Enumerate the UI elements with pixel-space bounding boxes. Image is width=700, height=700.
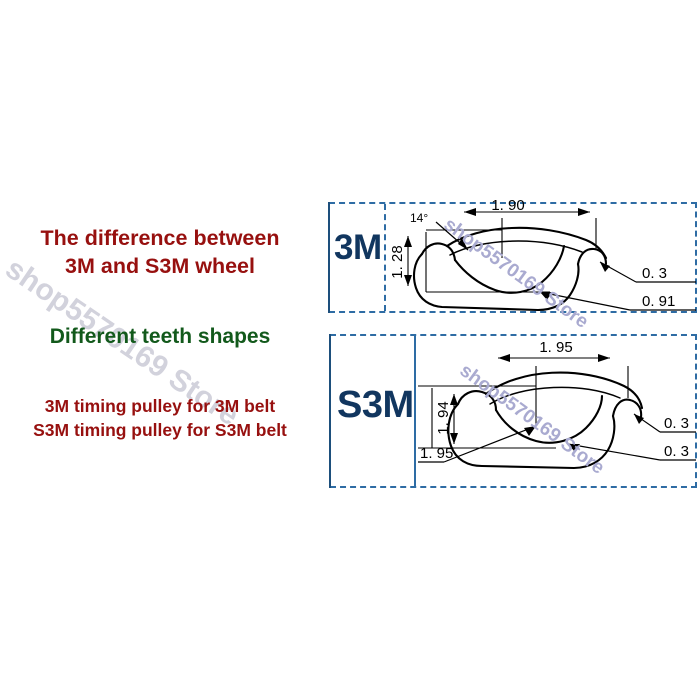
profile-outer-3m [414, 254, 579, 310]
profile-lobe-left-3m [422, 243, 455, 260]
dim-height-s3m: 1. 94 [435, 401, 452, 434]
panel-3m-divider [384, 204, 386, 311]
caption-line-1: 3M timing pulley for 3M belt [0, 396, 320, 417]
panel-s3m-left-border [329, 334, 331, 488]
arrowhead-r195-s3m [524, 426, 536, 436]
dim-r03-top-s3m: 0. 3 [664, 415, 689, 432]
dim-angle-3m: 14° [410, 211, 428, 225]
subheading-line: Different teeth shapes [0, 325, 320, 349]
arrowheads-3m [404, 208, 590, 286]
panel-s3m-label: S3M [337, 384, 414, 427]
caption-line-2: S3M timing pulley for S3M belt [0, 420, 320, 441]
panel-3m-label: 3M [334, 228, 382, 268]
profile-lobe-right-s3m [613, 400, 641, 417]
arrowhead-r091-3m [540, 292, 552, 300]
dim-r091-3m: 0. 91 [642, 293, 675, 310]
arrowhead-r03-bottom-s3m [568, 444, 580, 452]
profile-outer-s3m [448, 404, 614, 468]
tooth-profile-s3m: 1. 95 1. 94 1. 95 0. 3 0. 3 [416, 340, 698, 485]
dim-height-3m: 1. 28 [390, 245, 406, 278]
dim-width-3m: 1. 90 [491, 200, 524, 214]
arrowhead-r03-top-s3m [634, 414, 644, 424]
dim-width-s3m: 1. 95 [539, 340, 572, 356]
text-panel: The difference between 3M and S3M wheel … [0, 0, 320, 700]
dim-r03-bottom-s3m: 0. 3 [664, 443, 689, 460]
diagram-canvas: shop5570169 Store The difference between… [0, 0, 700, 700]
profile-lobe-left-s3m [458, 391, 496, 410]
heading-line-2: 3M and S3M wheel [0, 254, 320, 279]
dim-r03-3m: 0. 3 [642, 265, 667, 282]
heading-line-1: The difference between [0, 226, 320, 251]
dim-r195-s3m: 1. 95 [420, 445, 453, 462]
panel-3m-left-border [328, 202, 330, 313]
profile-valley-3m [455, 246, 564, 293]
tooth-profile-3m: 1. 90 1. 28 14° 0. 3 0. 91 [390, 200, 700, 318]
